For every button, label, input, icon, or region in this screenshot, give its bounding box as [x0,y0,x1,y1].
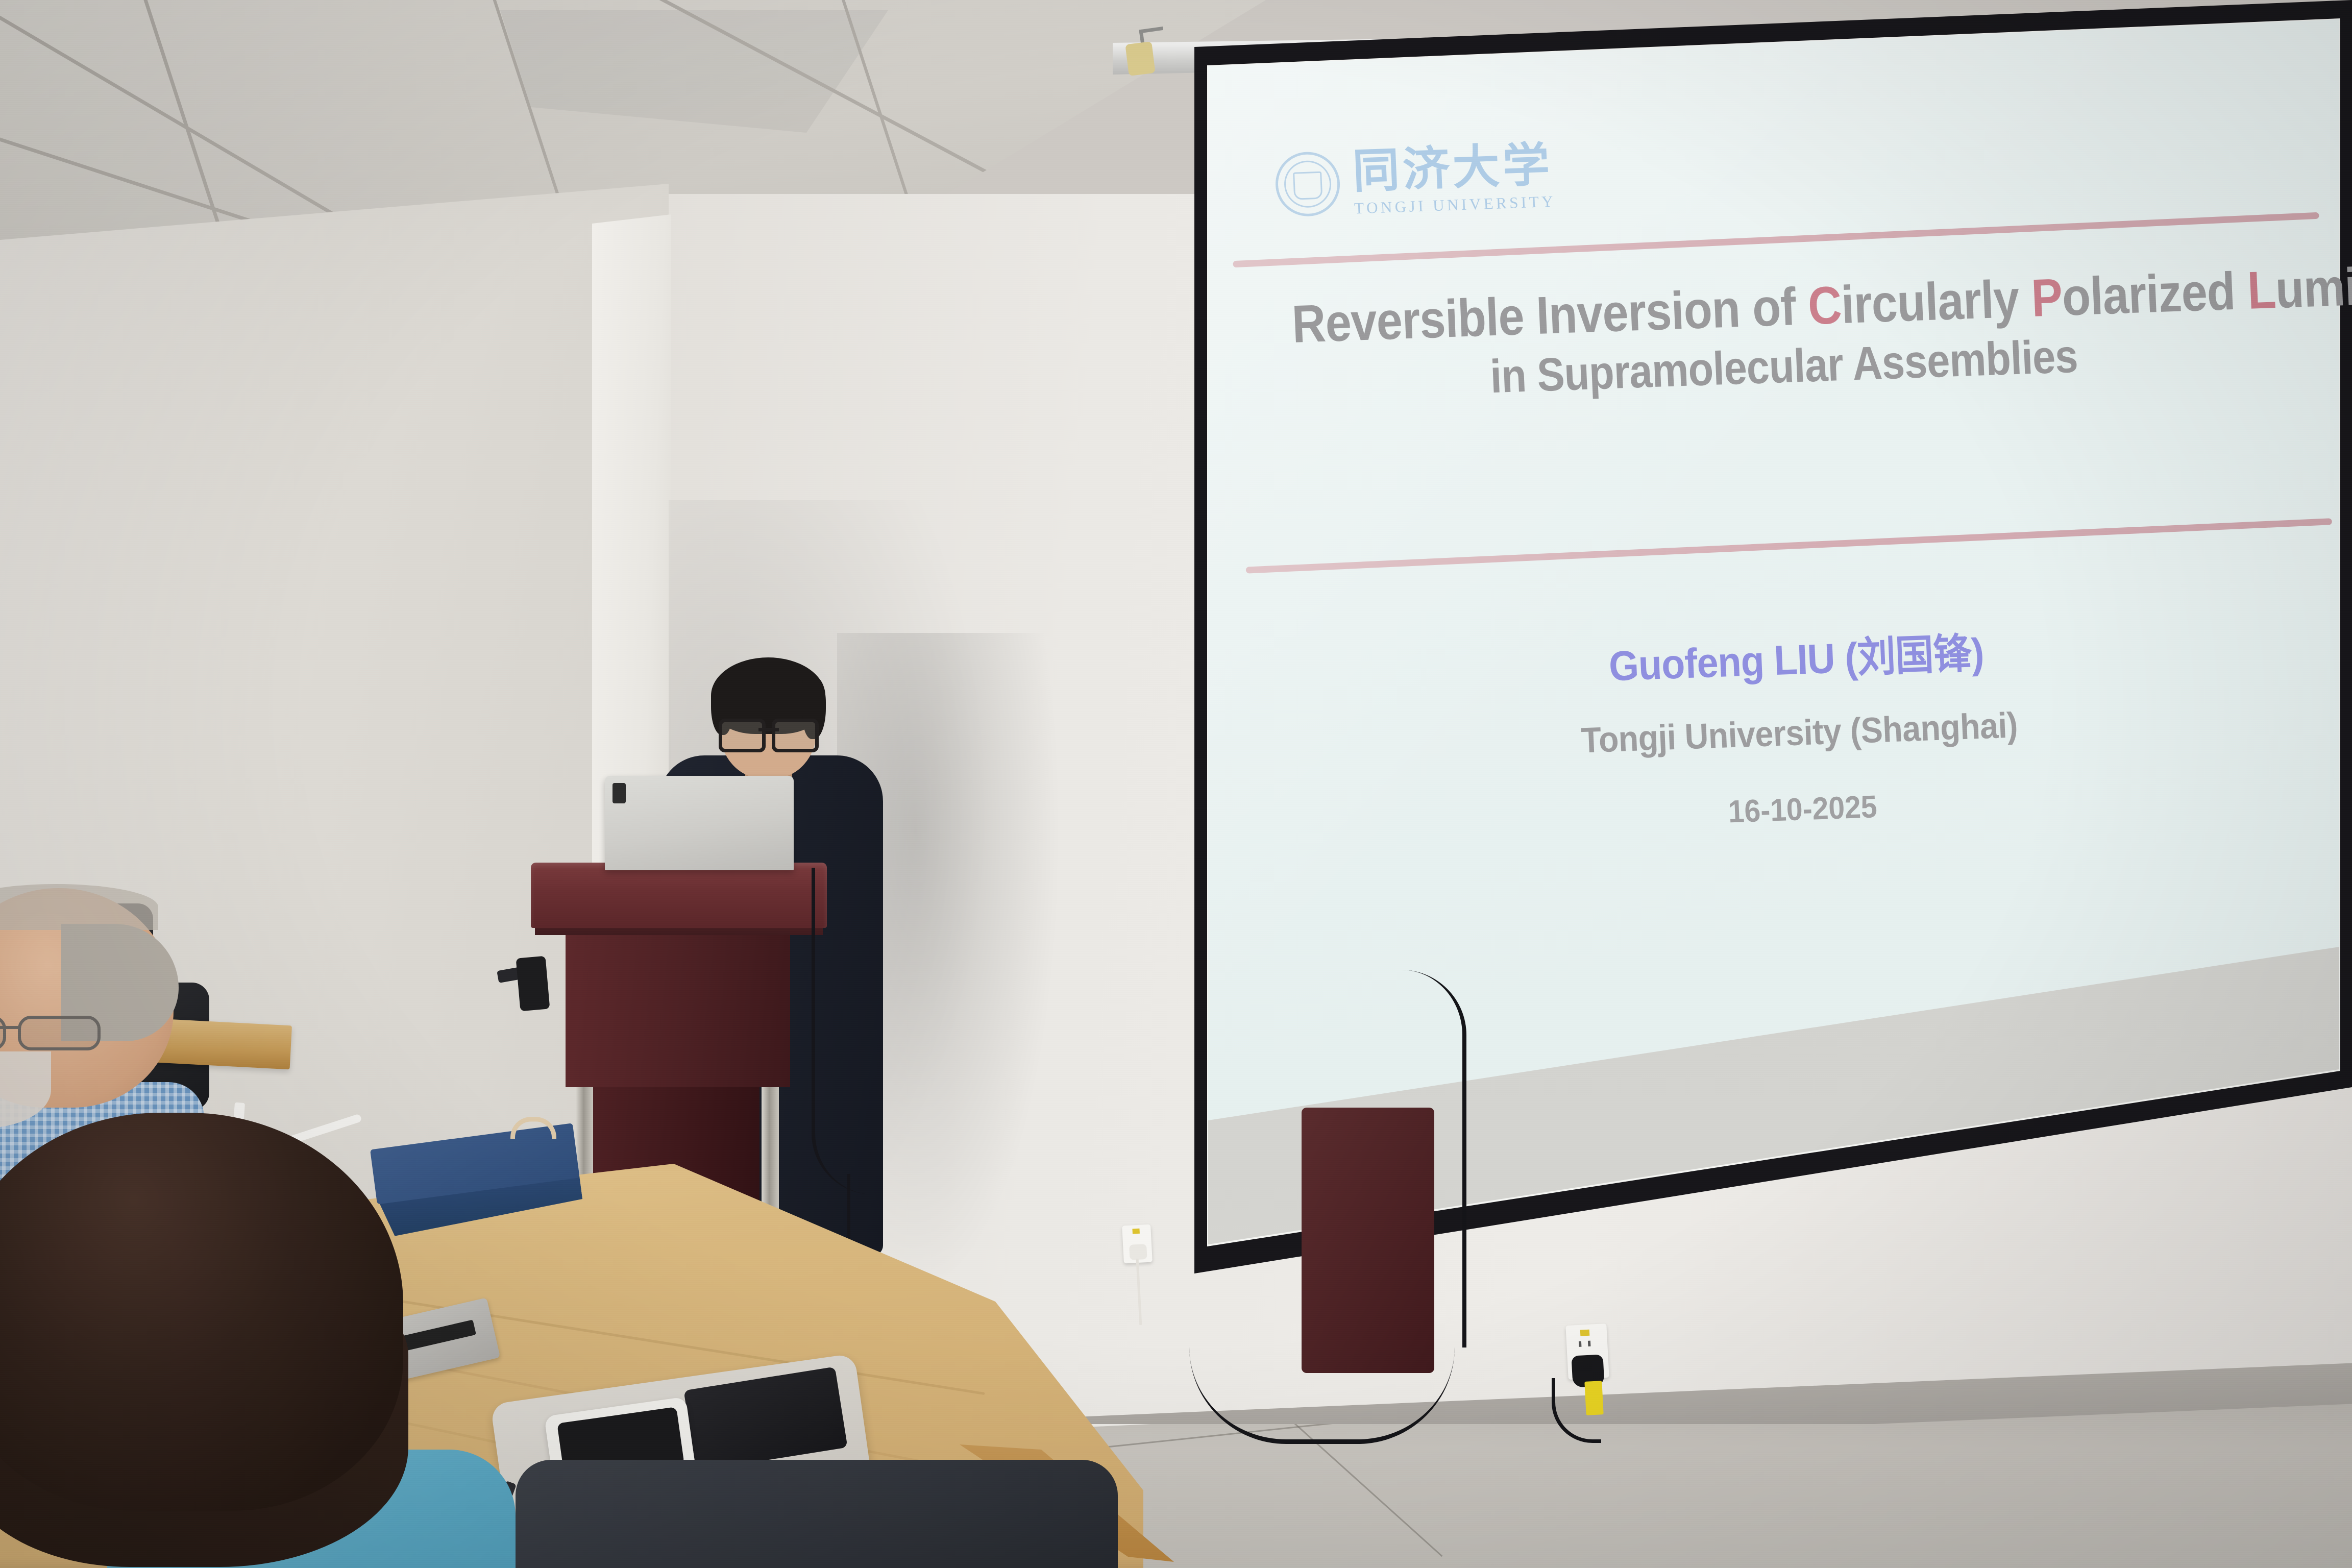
eyeglasses-icon [719,719,819,746]
foreground-chair-back [516,1460,1118,1568]
decorative-rule-bottom [1246,518,2332,573]
tongji-seal-icon [1274,151,1341,217]
clip-microphone[interactable] [516,956,550,1012]
eyeglass-lens-right [772,719,819,752]
podium-top [531,863,827,928]
slide-author: Guofeng LIU (刘国锋) [1283,607,2309,704]
outlet-yellow-tag [1580,1330,1590,1336]
presenter-laptop[interactable] [605,776,794,870]
eyeglass-lens-left [719,719,766,752]
logo-wordmark: 同济大学 TONGJI UNIVERSITY [1352,141,1556,216]
womans-hair [0,1113,403,1511]
laptop-power-cable [812,868,912,1194]
slide-affiliation: Tongji University (Shanghai) [1287,694,2312,771]
reading-glasses-bridge [0,1026,18,1029]
reading-lens-left [0,1016,6,1050]
seminar-room-photo: 同济大学 TONGJI UNIVERSITY Reversible Invers… [0,0,2352,1568]
title-text-run: olarized [2061,261,2249,327]
logo-chinese-name: 同济大学 [1352,141,1555,195]
title-text-run: ircularly [1840,269,2032,335]
outlet-slots-icon [1577,1340,1598,1347]
outlet-yellow-tag [1132,1229,1140,1234]
podium-body [566,934,790,1087]
ceiling-tile-shadow [500,10,888,133]
title-text-run: uminescence [2274,250,2352,320]
slide-title: Reversible Inversion of Circularly Polar… [1224,257,2341,414]
eyeglass-bridge [758,728,779,731]
far-red-chair [1302,1108,1434,1373]
reading-glasses-icon [0,1016,133,1045]
white-plug [1129,1244,1147,1260]
title-highlight-letter: L [2246,260,2277,321]
reading-lens-right [18,1016,101,1050]
slide-date: 16-10-2025 [1290,773,2315,846]
decorative-rule-top [1233,212,2319,267]
tongji-logo: 同济大学 TONGJI UNIVERSITY [1274,141,1556,219]
mans-hair-top [0,884,158,930]
title-slide: 同济大学 TONGJI UNIVERSITY Reversible Invers… [1215,37,2352,1004]
title-highlight-letter: C [1807,276,1843,336]
seated-woman-foreground [0,1113,470,1568]
laptop-hinge [612,783,626,803]
title-highlight-letter: P [2030,268,2063,328]
wall-outlet-white[interactable] [1122,1224,1153,1264]
